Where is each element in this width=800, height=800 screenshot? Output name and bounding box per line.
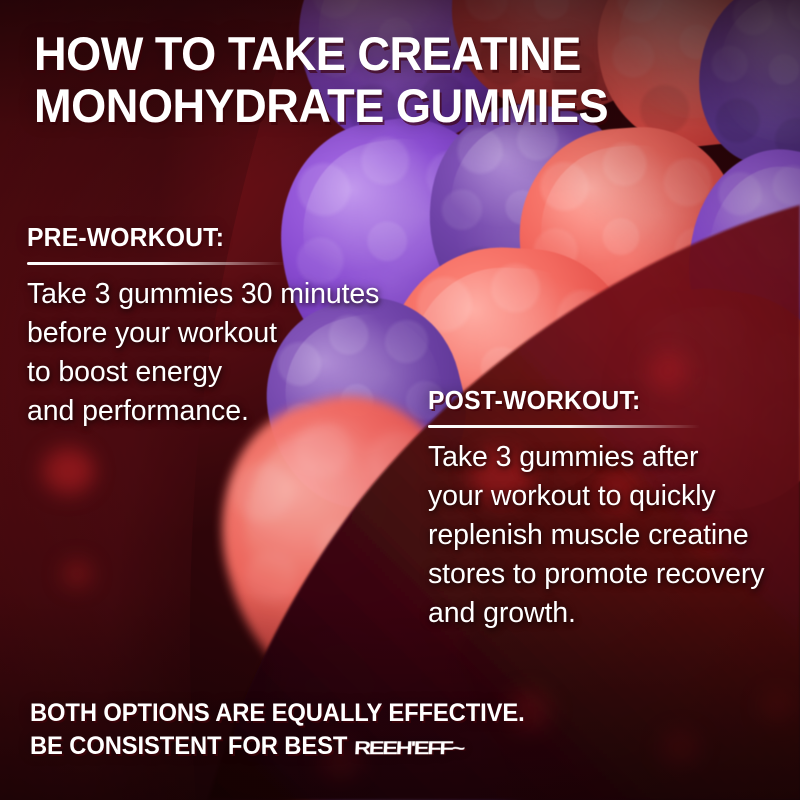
text-content: HOW TO TAKE CREATINE MONOHYDRATE GUMMIES… bbox=[0, 0, 800, 800]
pre-body-line-3: to boost energy bbox=[27, 353, 419, 392]
footer-line-2: BE CONSISTENT FOR BEST REEH'EFF~ bbox=[30, 730, 733, 763]
post-body-line-3: replenish muscle creatine bbox=[428, 516, 788, 555]
footer-line-1: BOTH OPTIONS ARE EQUALLY EFFECTIVE. bbox=[30, 697, 733, 730]
section-body-post-workout: Take 3 gummies after your workout to qui… bbox=[428, 438, 788, 633]
section-pre-workout: PRE-WORKOUT: Take 3 gummies 30 minutes b… bbox=[27, 222, 419, 431]
page-title-line-1: HOW TO TAKE CREATINE bbox=[34, 28, 706, 80]
footer-garbled-word: REEH'EFF~ bbox=[353, 737, 463, 761]
pre-body-line-2: before your workout bbox=[27, 314, 419, 353]
section-heading-post-workout: POST-WORKOUT: bbox=[428, 385, 770, 416]
pre-body-line-1: Take 3 gummies 30 minutes bbox=[27, 275, 419, 314]
post-body-line-2: your workout to quickly bbox=[428, 477, 788, 516]
post-body-line-4: stores to promote recovery bbox=[428, 555, 788, 594]
page-title-line-2: MONOHYDRATE GUMMIES bbox=[34, 80, 706, 132]
section-heading-pre-workout: PRE-WORKOUT: bbox=[27, 222, 399, 253]
poster-canvas: HOW TO TAKE CREATINE MONOHYDRATE GUMMIES… bbox=[0, 0, 800, 800]
pre-body-line-4: and performance. bbox=[27, 392, 419, 431]
footer-line-2-prefix: BE CONSISTENT FOR BEST bbox=[30, 732, 354, 760]
section-post-workout: POST-WORKOUT: Take 3 gummies after your … bbox=[428, 385, 788, 633]
section-body-pre-workout: Take 3 gummies 30 minutes before your wo… bbox=[27, 275, 419, 431]
post-body-line-1: Take 3 gummies after bbox=[428, 438, 788, 477]
section-divider-post-workout bbox=[428, 425, 700, 428]
footer-callout: BOTH OPTIONS ARE EQUALLY EFFECTIVE. BE C… bbox=[30, 697, 733, 763]
section-divider-pre-workout bbox=[27, 262, 285, 265]
page-title: HOW TO TAKE CREATINE MONOHYDRATE GUMMIES bbox=[34, 28, 706, 132]
post-body-line-5: and growth. bbox=[428, 594, 788, 633]
